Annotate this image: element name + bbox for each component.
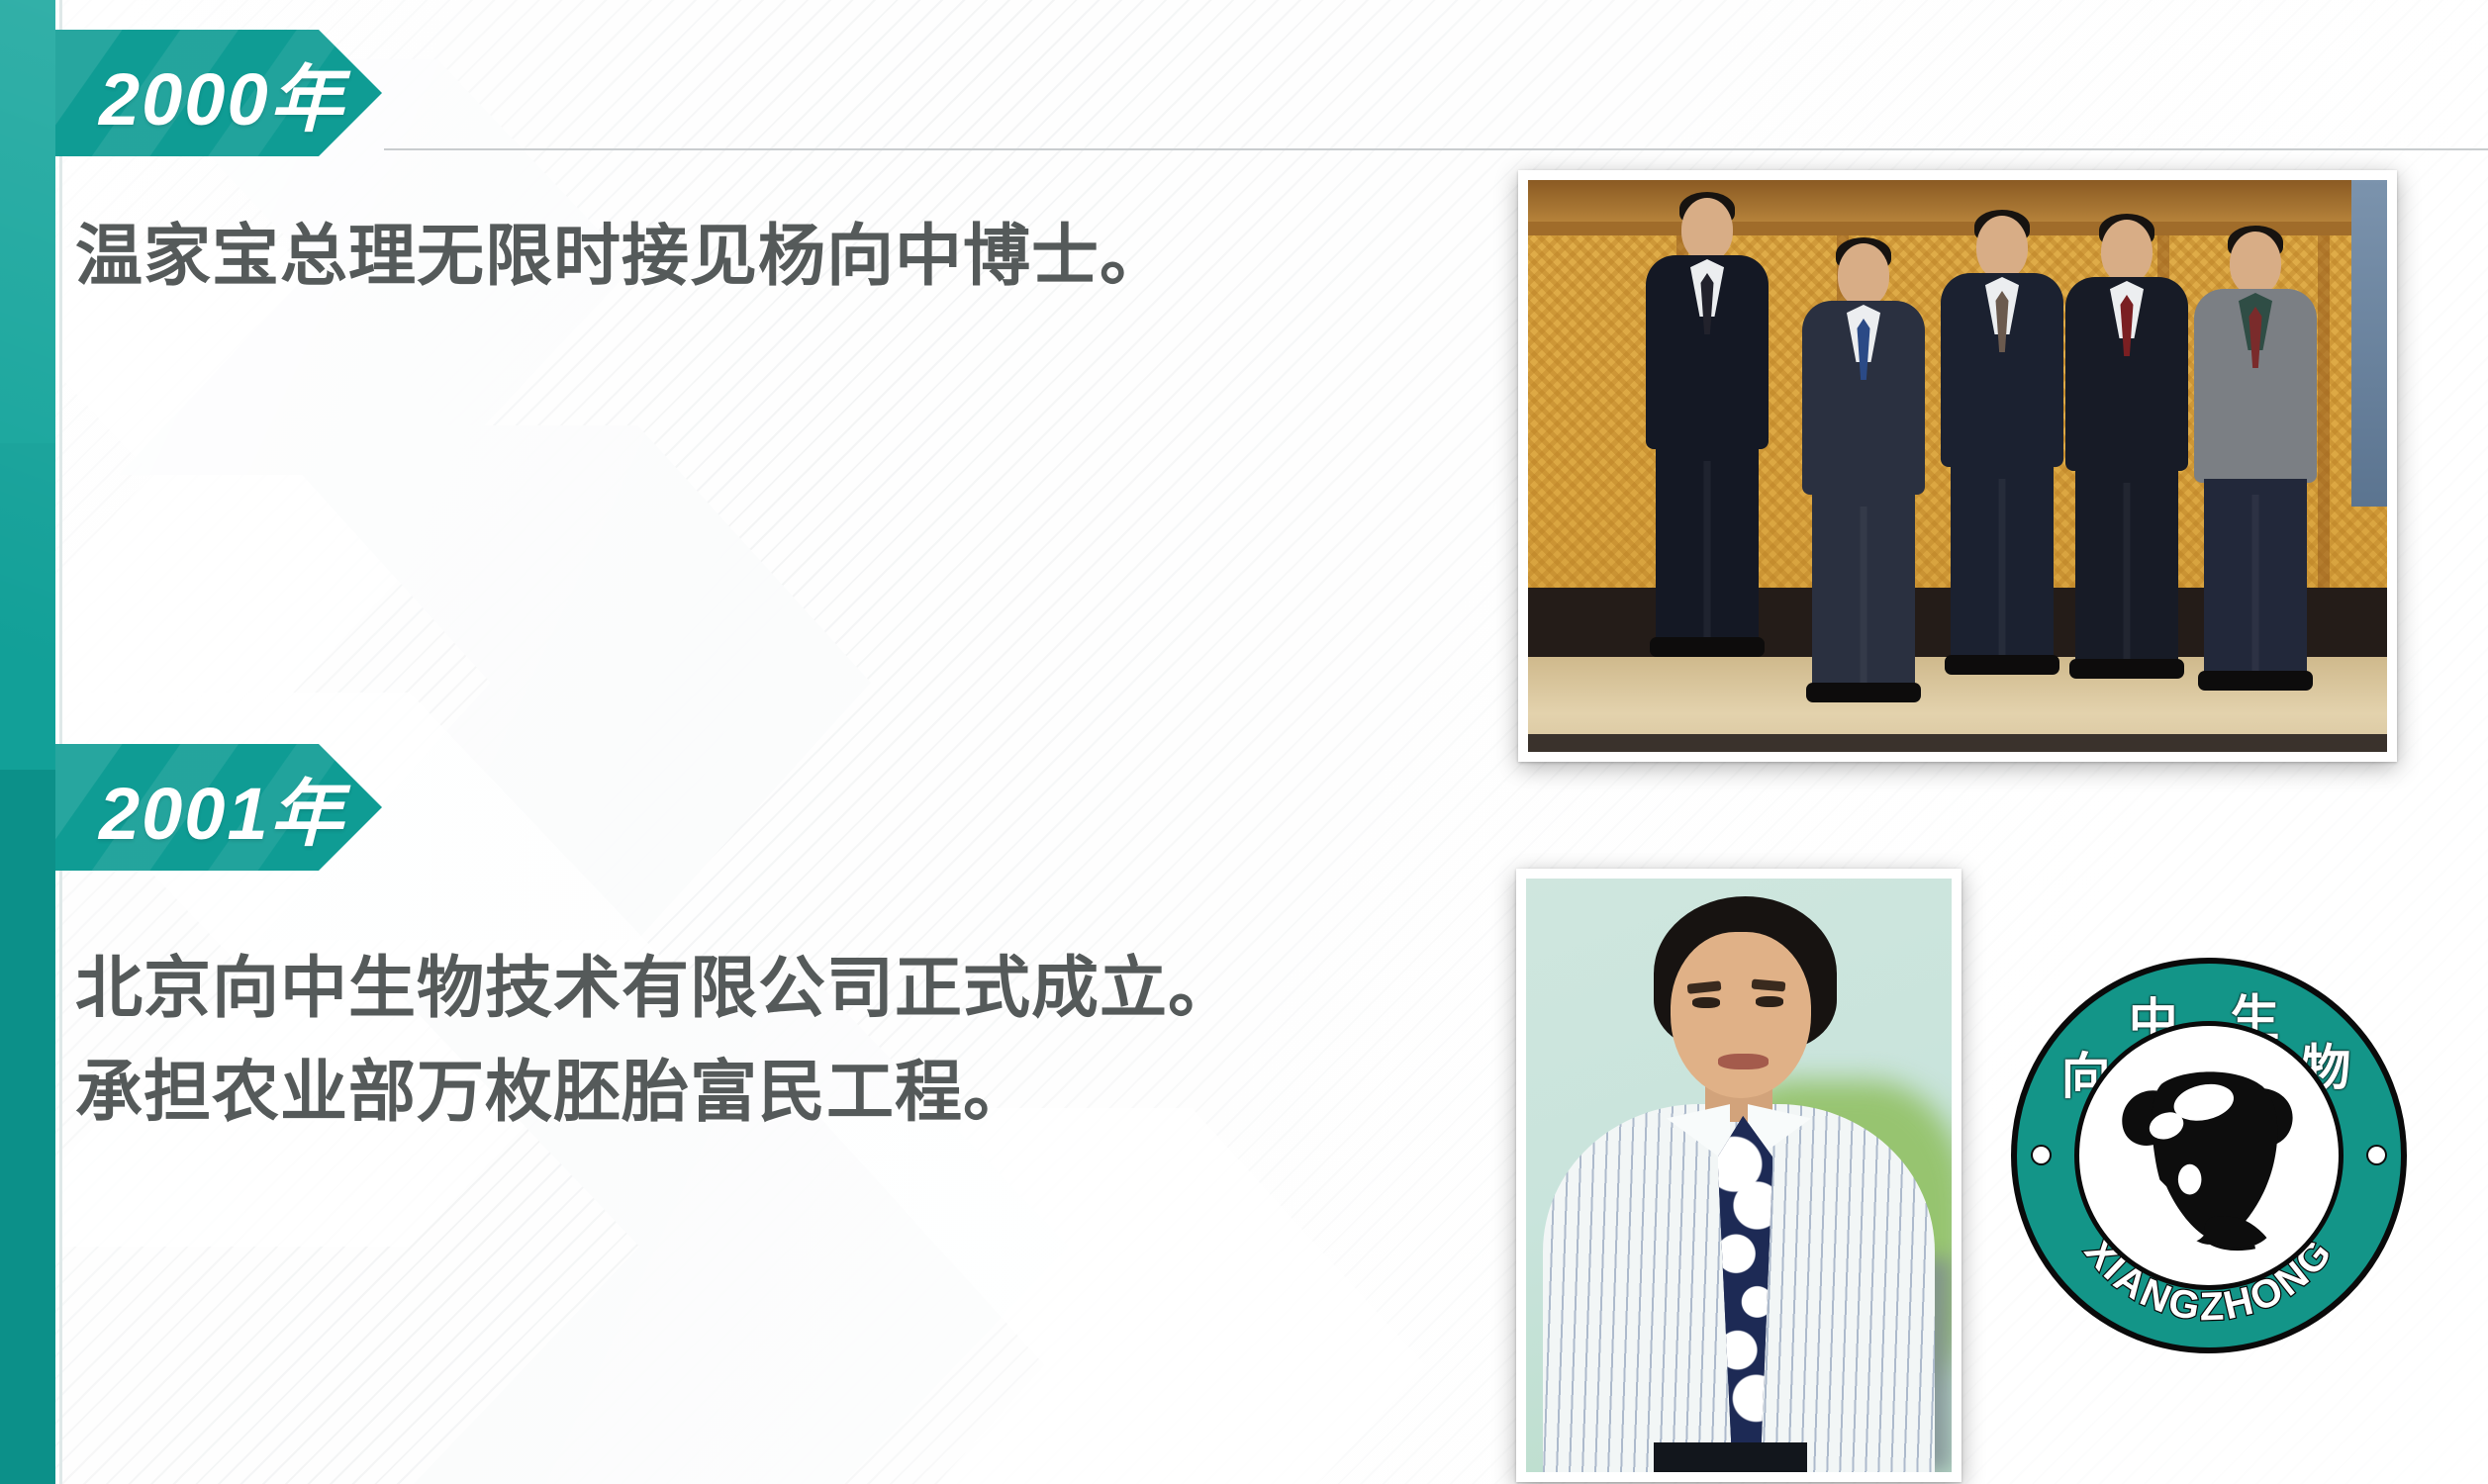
person-5-legs [2204, 479, 2307, 677]
description-2000-line-1: 温家宝总理无限时接见杨向中博士。 [75, 216, 1168, 298]
portrait-eye-right [1756, 996, 1783, 1007]
portrait-belt [1654, 1442, 1807, 1472]
person-2 [1789, 243, 1938, 657]
year-label-2001: 2001年 [55, 755, 345, 861]
person-2-head [1838, 243, 1889, 307]
xiangzhong-logo[interactable]: XIANGZHONG 向 中 生 物 [2011, 958, 2407, 1353]
blue-side-panel [2351, 180, 2387, 507]
person-4 [2053, 220, 2201, 657]
person-2-shoes [1806, 683, 1921, 702]
description-2001-line-2: 承担农业部万枚胚胎富民工程。 [75, 1052, 1236, 1134]
person-1-head [1681, 198, 1733, 261]
logo-inner-disc [2074, 1021, 2344, 1290]
portrait-eye-left [1692, 997, 1720, 1008]
portrait-photo[interactable] [1516, 869, 1962, 1482]
person-3-legs [1951, 463, 2054, 661]
floor-edge [1528, 734, 2387, 752]
person-4-head [2101, 220, 2153, 283]
person-1-legs [1656, 445, 1759, 643]
person-5 [2181, 232, 2330, 657]
person-4-legs [2075, 467, 2178, 665]
timeline-rule-2000 [384, 148, 2488, 150]
description-2001-line-1: 北京向中生物技术有限公司正式成立。 [75, 948, 1236, 1030]
slide-canvas: 2000年 温家宝总理无限时接见杨向中博士。 [0, 0, 2488, 1484]
logo-dot-right [2368, 1147, 2385, 1163]
person-3-shoes [1945, 655, 2059, 675]
cow-head-icon [2089, 1042, 2328, 1275]
person-1-shoes [1650, 637, 1765, 657]
person-3-head [1976, 216, 2028, 279]
year-tag-2001[interactable]: 2001年 [55, 744, 382, 871]
meeting-photo-inner [1528, 180, 2387, 752]
person-2-legs [1812, 491, 1915, 689]
rail-separator [59, 0, 62, 1484]
logo-dot-left [2033, 1147, 2050, 1163]
meeting-photo[interactable] [1518, 170, 2397, 762]
portrait-mouth [1718, 1054, 1770, 1069]
person-5-head [2230, 232, 2281, 295]
person-1 [1633, 198, 1781, 657]
description-2001: 北京向中生物技术有限公司正式成立。 承担农业部万枚胚胎富民工程。 [75, 948, 1236, 1134]
rail-highlight [0, 0, 55, 1484]
year-label-2000: 2000年 [55, 41, 345, 146]
person-4-shoes [2069, 659, 2184, 679]
portrait-face [1671, 932, 1811, 1098]
portrait-photo-inner [1526, 879, 1952, 1472]
person-5-shoes [2198, 671, 2313, 691]
description-2000: 温家宝总理无限时接见杨向中博士。 [75, 216, 1168, 298]
year-tag-2000[interactable]: 2000年 [55, 30, 382, 156]
